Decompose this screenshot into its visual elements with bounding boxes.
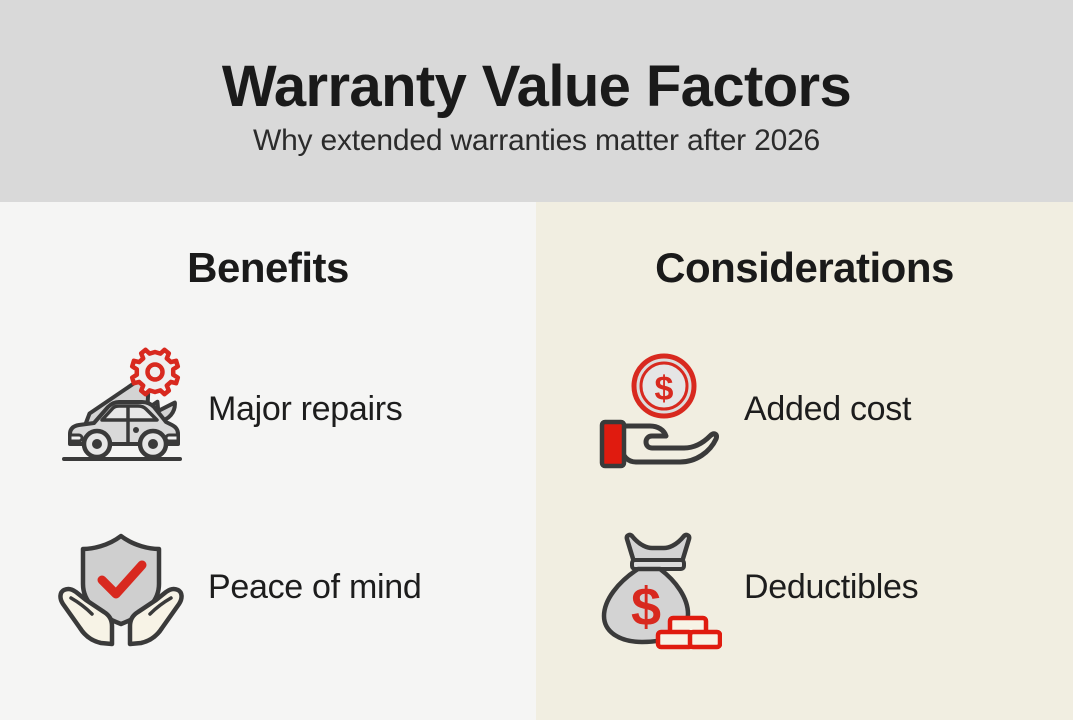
panel-considerations: Considerations $ xyxy=(536,202,1073,720)
car-wrench-gear-icon xyxy=(56,344,186,474)
panels-container: Benefits xyxy=(0,202,1073,720)
list-item: $ Added cost xyxy=(536,344,1073,474)
shield-check-hands-icon xyxy=(56,522,186,652)
header-banner: Warranty Value Factors Why extended warr… xyxy=(0,0,1073,202)
page-subtitle: Why extended warranties matter after 202… xyxy=(253,124,820,159)
benefits-item-list: Major repairs xyxy=(0,344,536,652)
list-item-label: Major repairs xyxy=(208,390,403,429)
money-bag-gold-bars-icon: $ xyxy=(592,522,722,652)
svg-text:$: $ xyxy=(655,370,674,408)
list-item-label: Deductibles xyxy=(744,568,918,607)
panel-heading-considerations: Considerations xyxy=(536,244,1073,292)
list-item-label: Added cost xyxy=(744,390,911,429)
infographic-root: Warranty Value Factors Why extended warr… xyxy=(0,0,1073,720)
panel-heading-benefits: Benefits xyxy=(0,244,536,292)
list-item: Peace of mind xyxy=(0,522,536,652)
hand-coin-dollar-icon: $ xyxy=(592,344,722,474)
list-item: $ Deductibles xyxy=(536,522,1073,652)
considerations-item-list: $ Added cost xyxy=(536,344,1073,652)
page-title: Warranty Value Factors xyxy=(222,57,851,118)
svg-text:$: $ xyxy=(631,577,661,637)
list-item: Major repairs xyxy=(0,344,536,474)
panel-benefits: Benefits xyxy=(0,202,536,720)
list-item-label: Peace of mind xyxy=(208,568,421,607)
